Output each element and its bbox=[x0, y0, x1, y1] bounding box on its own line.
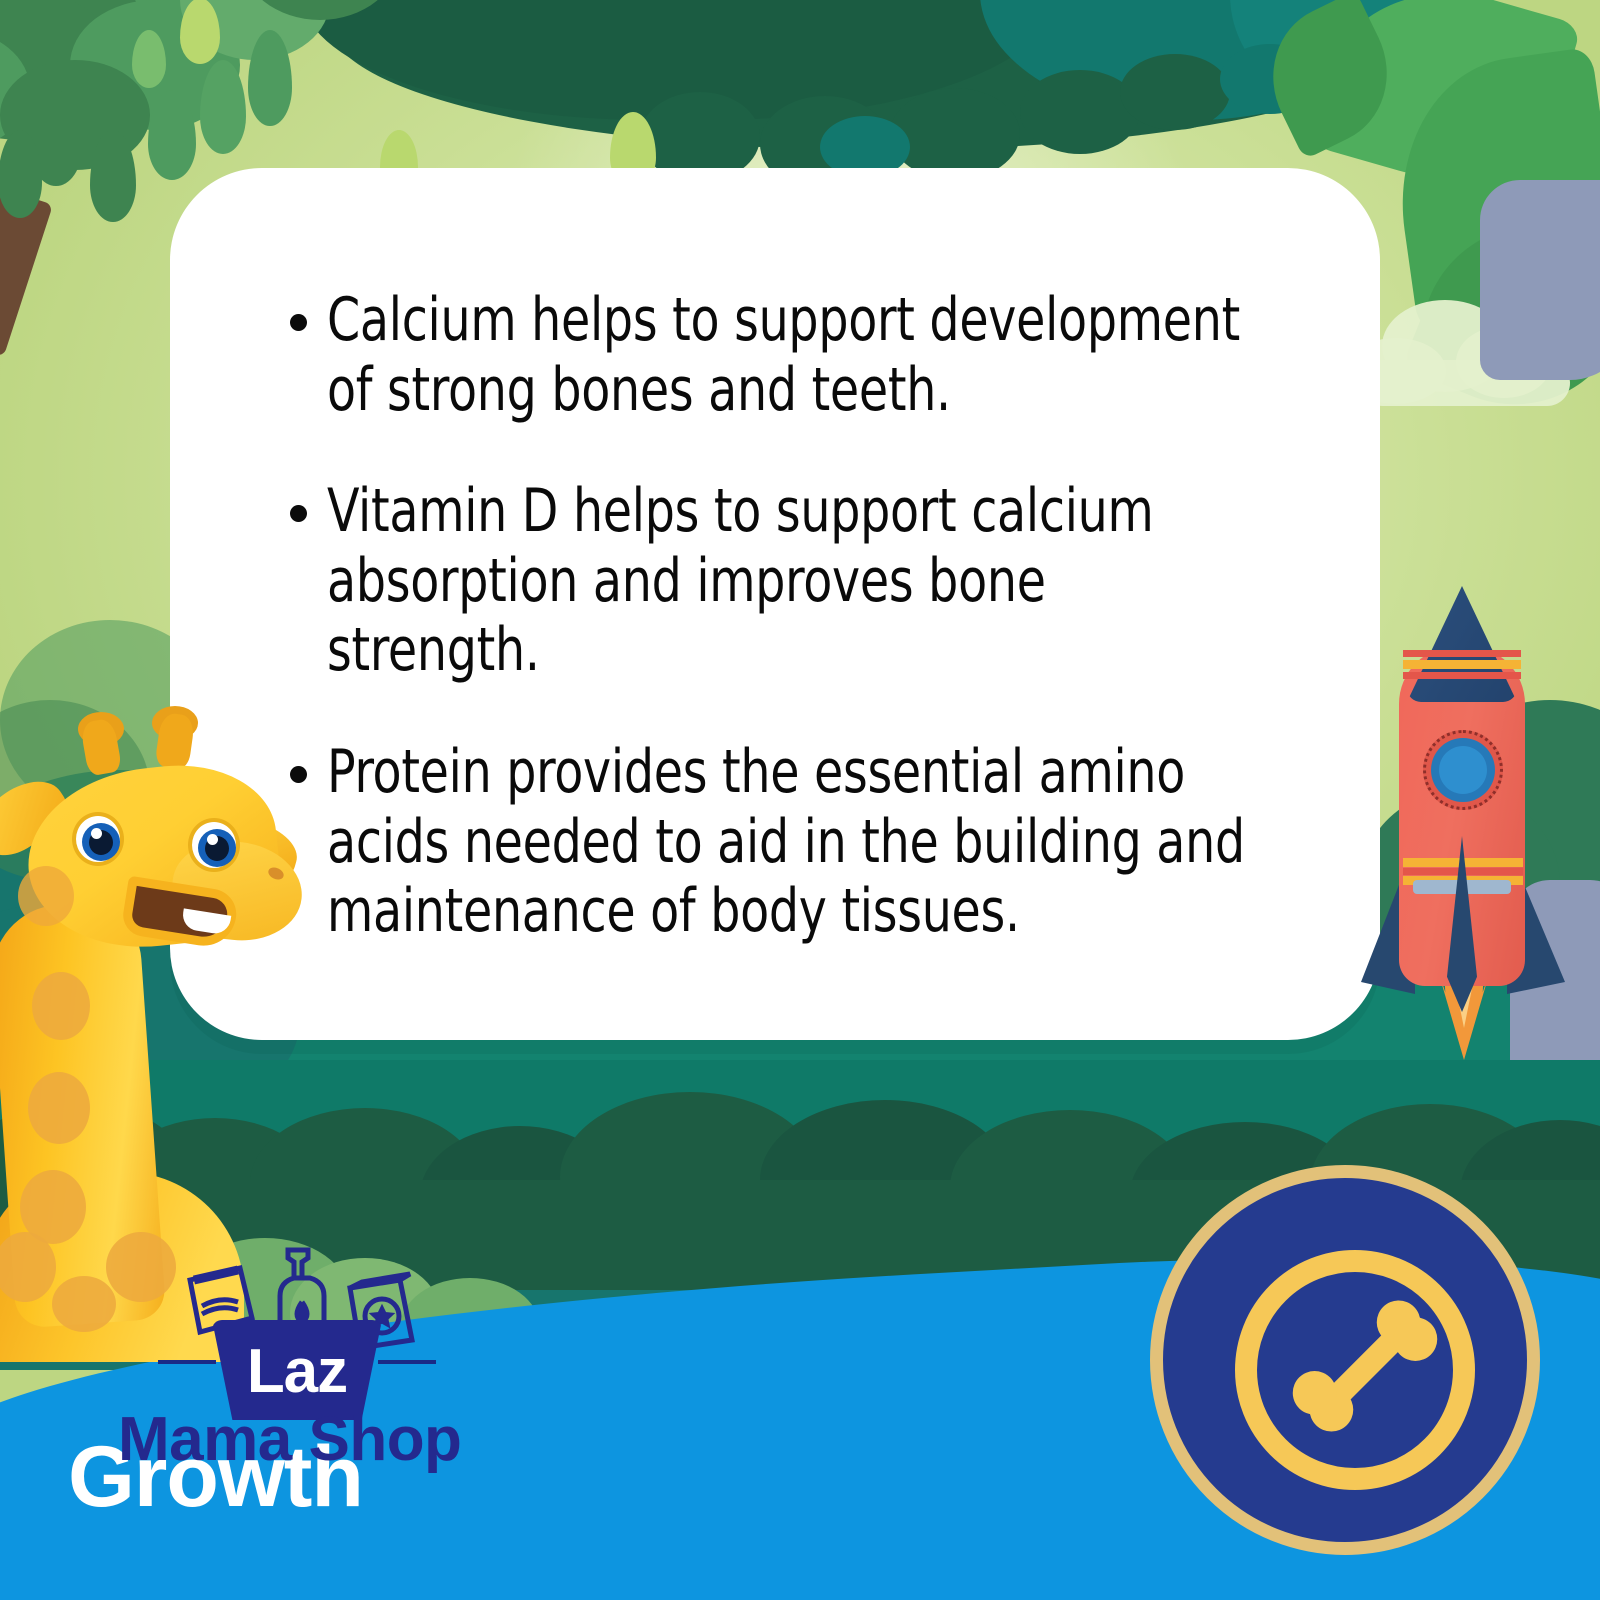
rocket-illustration bbox=[1355, 582, 1575, 1082]
bone-icon bbox=[1281, 1282, 1449, 1450]
rocket-porthole-glass bbox=[1439, 746, 1487, 794]
bullet-dot-icon bbox=[290, 314, 307, 331]
brand-logo: Growth Laz bbox=[40, 1232, 510, 1482]
bullet-text: Protein provides the essential amino aci… bbox=[327, 738, 1262, 947]
rocket-nose-cone bbox=[1407, 586, 1517, 702]
rocket-stripe bbox=[1403, 660, 1521, 669]
bone-badge bbox=[1150, 1165, 1540, 1555]
bullet-dot-icon bbox=[290, 505, 307, 522]
bullet-text: Vitamin D helps to support calcium absor… bbox=[327, 477, 1262, 686]
bullet-text: Calcium helps to support development of … bbox=[327, 286, 1262, 425]
rocket-stripe bbox=[1403, 672, 1521, 679]
list-item: Protein provides the essential amino aci… bbox=[290, 738, 1390, 947]
rock-shape bbox=[1480, 180, 1600, 380]
list-item: Vitamin D helps to support calcium absor… bbox=[290, 477, 1390, 686]
mama-shop-wordmark: Mama Shop bbox=[118, 1404, 518, 1475]
list-item: Calcium helps to support development of … bbox=[290, 286, 1390, 425]
giraffe-eye-right bbox=[188, 818, 240, 872]
rocket-stripe bbox=[1403, 650, 1521, 657]
giraffe-eye-left bbox=[72, 812, 124, 866]
canopy-scallop bbox=[1120, 54, 1230, 130]
giraffe-spot bbox=[28, 1072, 90, 1144]
info-card: Calcium helps to support development of … bbox=[170, 168, 1380, 1040]
bullet-list: Calcium helps to support development of … bbox=[290, 286, 1390, 947]
giraffe-spot bbox=[32, 972, 90, 1040]
infographic-canvas: Calcium helps to support development of … bbox=[0, 0, 1600, 1600]
canopy-scallop bbox=[890, 88, 1020, 180]
giraffe-cheek bbox=[18, 866, 74, 926]
giraffe-mascot bbox=[0, 672, 306, 1312]
logo-rule-left bbox=[158, 1360, 216, 1364]
logo-rule-right bbox=[378, 1360, 436, 1364]
